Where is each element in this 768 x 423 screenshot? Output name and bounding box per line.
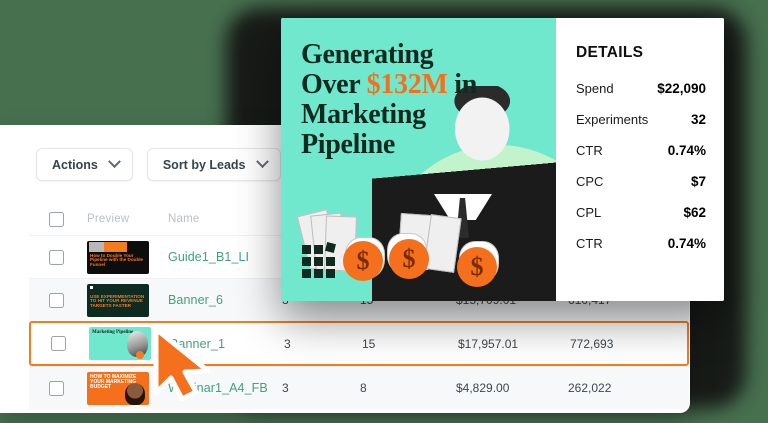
- column-header-name[interactable]: Name: [168, 213, 282, 225]
- grid-logo-icon: [302, 245, 336, 279]
- metric-value: 0.74%: [668, 236, 706, 251]
- metric-value: $22,090: [657, 81, 706, 96]
- headline-line-5: Pipeline: [301, 129, 395, 160]
- row-checkbox[interactable]: [49, 381, 64, 396]
- row-impressions: 262,022: [568, 381, 668, 395]
- row-spend: $17,957.01: [458, 337, 570, 351]
- table-row[interactable]: HOW TO MAXIMIZE YOUR MARKETING BUDGET We…: [29, 366, 689, 409]
- sort-dropdown-label: Sort by Leads: [163, 158, 246, 172]
- headline-line-3: in: [454, 69, 477, 100]
- row-experiments: 15: [362, 337, 458, 351]
- thumbnail-caption: USE EXPERIMENTATION TO HIT YOUR REVENUE …: [90, 295, 149, 309]
- headline-line-2: Over: [301, 69, 360, 100]
- select-all-cell: [29, 212, 83, 227]
- metric-row: CPL $62: [576, 205, 706, 220]
- row-checkbox[interactable]: [51, 336, 66, 351]
- actions-dropdown[interactable]: Actions: [36, 148, 133, 181]
- metric-value: 32: [691, 112, 706, 127]
- table-toolbar: Actions Sort by Leads: [36, 148, 281, 181]
- row-select-cell: [29, 381, 83, 396]
- campaign-name-link[interactable]: Banner_6: [168, 293, 223, 307]
- metric-row: Experiments 32: [576, 112, 706, 127]
- creative-thumbnail[interactable]: USE EXPERIMENTATION TO HIT YOUR REVENUE …: [87, 284, 149, 317]
- headline-line-4: Marketing: [301, 99, 426, 130]
- creative-headline: Generating Over $132M in Marketing Pipel…: [301, 40, 546, 160]
- creative-preview: $ $ $ Generating Over $132M in Marketing…: [281, 18, 556, 301]
- row-preview-cell: USE EXPERIMENTATION TO HIT YOUR REVENUE …: [83, 284, 168, 317]
- metric-value: $7: [691, 174, 706, 189]
- thumbnail-banner-strip: [89, 242, 127, 252]
- table-row-selected[interactable]: Marketing Pipeline Banner_1 3 15 $17,957…: [29, 321, 689, 366]
- metric-row: CTR 0.74%: [576, 143, 706, 158]
- row-preview-cell: How to Double Your Pipeline with the Dou…: [83, 241, 168, 274]
- row-name-cell: Banner_6: [168, 291, 282, 309]
- creative-thumbnail[interactable]: Marketing Pipeline: [89, 327, 151, 360]
- sort-by-leads-dropdown[interactable]: Sort by Leads: [147, 148, 281, 181]
- row-variants: 3: [284, 337, 362, 351]
- details-title: DETAILS: [576, 44, 706, 62]
- metric-value: 0.74%: [668, 143, 706, 158]
- metric-label: CPC: [576, 174, 603, 189]
- creative-thumbnail[interactable]: How to Double Your Pipeline with the Dou…: [87, 241, 149, 274]
- details-panel: DETAILS Spend $22,090 Experiments 32 CTR…: [556, 18, 724, 301]
- select-all-checkbox[interactable]: [49, 212, 64, 227]
- row-checkbox[interactable]: [49, 250, 64, 265]
- dollar-coin-icon: $: [457, 247, 497, 287]
- row-spend: $4,829.00: [456, 381, 568, 395]
- row-select-cell: [31, 336, 85, 351]
- metric-row: CTR 0.74%: [576, 236, 706, 251]
- thumbnail-portrait: [125, 383, 145, 405]
- row-select-cell: [29, 250, 83, 265]
- column-header-preview[interactable]: Preview: [83, 213, 168, 225]
- chevron-down-icon: [256, 155, 269, 168]
- row-name-cell: Guide1_B1_LI: [168, 248, 282, 266]
- metric-label: CPL: [576, 205, 601, 220]
- metric-value: $62: [683, 205, 706, 220]
- mouse-pointer-icon: [152, 327, 218, 401]
- metric-row: CPC $7: [576, 174, 706, 189]
- thumbnail-caption: How to Double Your Pipeline with the Dou…: [90, 254, 149, 268]
- dollar-coin-icon: $: [343, 241, 383, 281]
- metric-label: Experiments: [576, 112, 648, 127]
- row-variants: 3: [282, 381, 360, 395]
- actions-dropdown-label: Actions: [52, 158, 98, 172]
- row-checkbox[interactable]: [49, 293, 64, 308]
- campaign-name-link[interactable]: Guide1_B1_LI: [168, 250, 249, 264]
- chevron-down-icon: [108, 155, 121, 168]
- thumbnail-caption: Marketing Pipeline: [92, 330, 133, 335]
- creative-thumbnail[interactable]: HOW TO MAXIMIZE YOUR MARKETING BUDGET: [87, 372, 149, 405]
- thumbnail-coin-icon: [136, 351, 144, 359]
- banknote: [423, 214, 461, 273]
- dollar-coin-icon: $: [389, 239, 429, 279]
- row-experiments: 8: [360, 381, 456, 395]
- headline-amount: $132M: [367, 69, 448, 100]
- thumbnail-logo-icon: [90, 286, 93, 289]
- creative-detail-card: $ $ $ Generating Over $132M in Marketing…: [281, 18, 724, 301]
- metric-label: Spend: [576, 81, 614, 96]
- row-select-cell: [29, 293, 83, 308]
- metric-label: CTR: [576, 236, 603, 251]
- metric-row: Spend $22,090: [576, 81, 706, 96]
- metric-label: CTR: [576, 143, 603, 158]
- headline-line-1: Generating: [301, 39, 433, 70]
- row-impressions: 772,693: [570, 337, 670, 351]
